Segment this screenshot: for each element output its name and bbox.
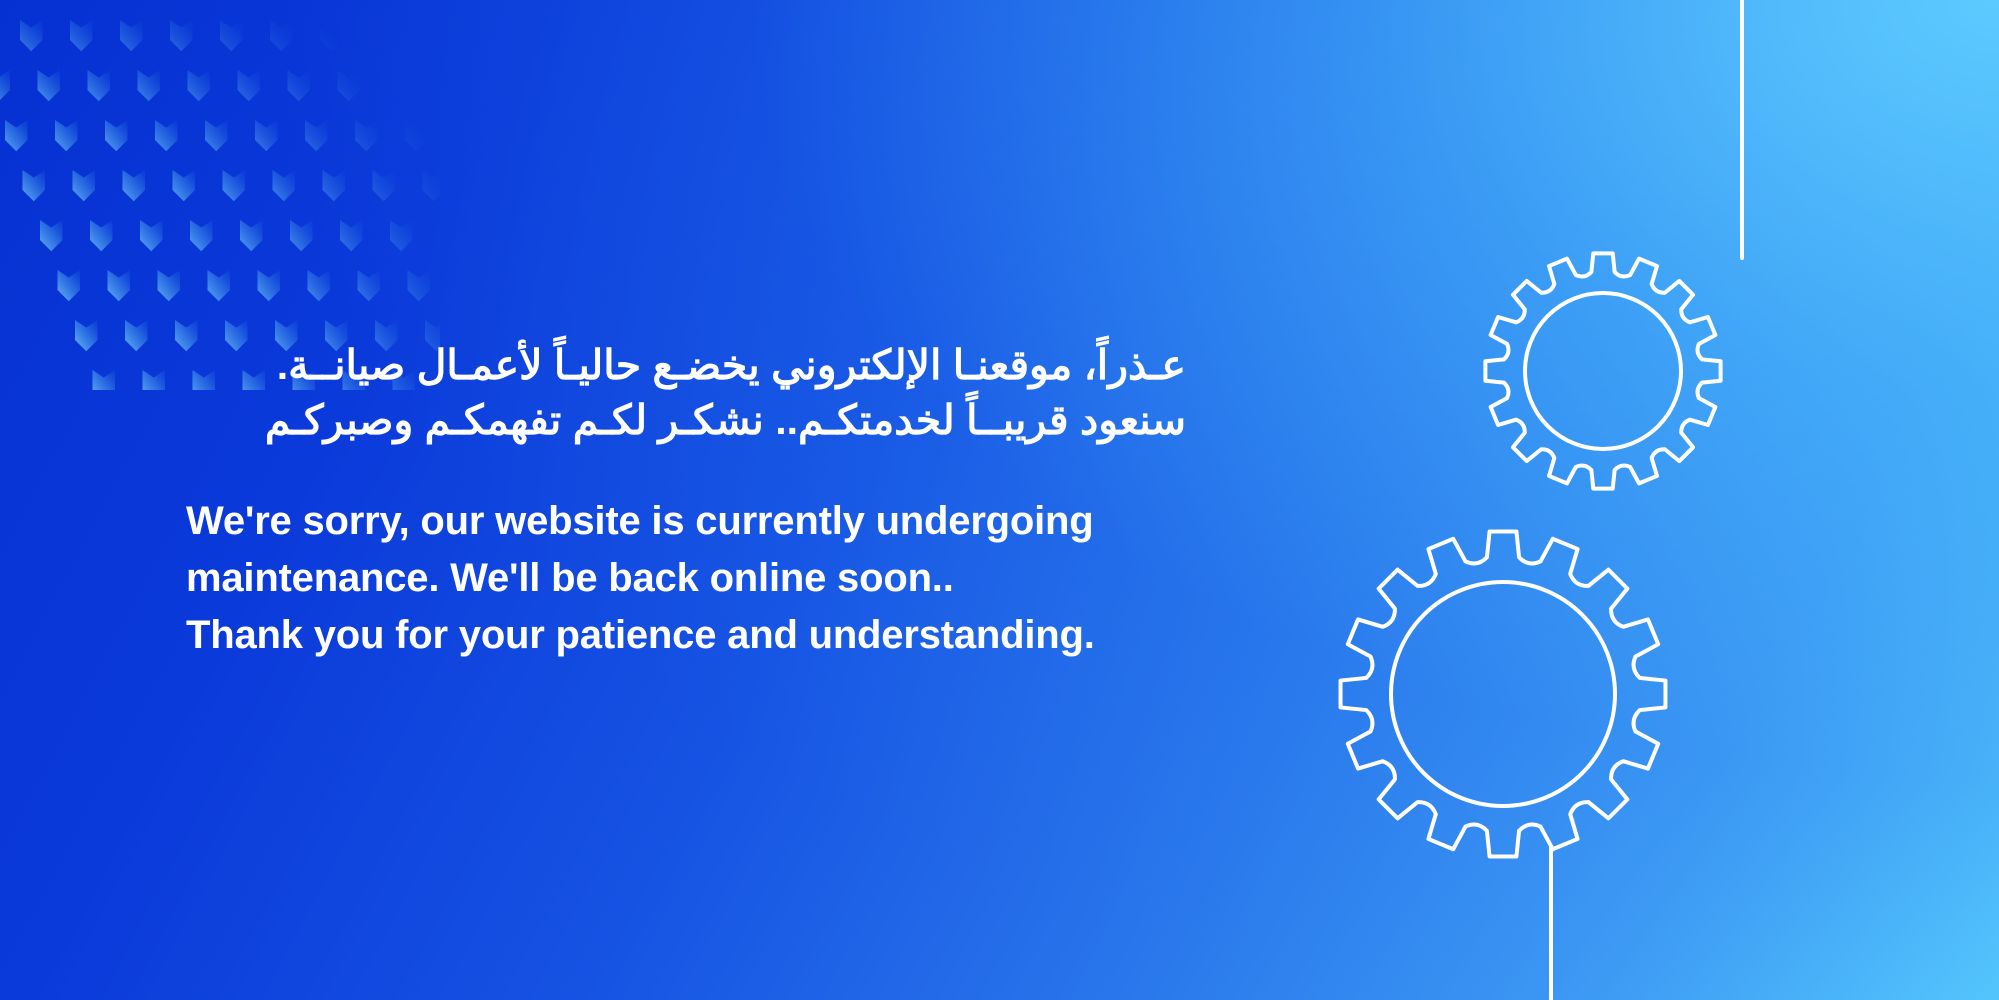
english-line-3: Thank you for your patience and understa… <box>186 607 1186 664</box>
large-gear-teeth <box>1341 532 1666 857</box>
chevron-dot-pattern <box>0 0 440 390</box>
english-line-2: maintenance. We'll be back online soon.. <box>186 550 1186 607</box>
small-gear-teeth <box>1485 253 1720 488</box>
arabic-message: عـذراً، موقعنـا الإلكتروني يخضـع حاليـاً… <box>186 338 1186 447</box>
arabic-line-2: سنعود قريبــاً لخدمتكـم.. نشكـر لكـم تفه… <box>186 393 1186 448</box>
large-gear-hub <box>1391 582 1615 806</box>
small-gear-hub <box>1525 293 1681 449</box>
maintenance-message: عـذراً، موقعنـا الإلكتروني يخضـع حاليـاً… <box>186 338 1186 665</box>
arabic-line-1: عـذراً، موقعنـا الإلكتروني يخضـع حاليـاً… <box>186 338 1186 393</box>
english-message: We're sorry, our website is currently un… <box>186 493 1186 665</box>
english-line-1: We're sorry, our website is currently un… <box>186 493 1186 550</box>
message-spacer <box>186 447 1186 493</box>
maintenance-page: عـذراً، موقعنـا الإلكتروني يخضـع حاليـاً… <box>0 0 1999 1000</box>
